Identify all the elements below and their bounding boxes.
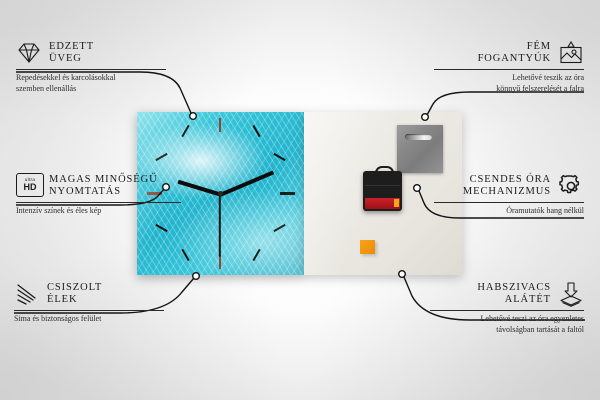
feature-description: Sima és biztonságos felület [14,314,174,325]
clock-second-hand [219,195,221,257]
feature-foam-pad: HABSZIVACS ALÁTÉT Lehetővé teszi az óra … [420,281,584,335]
ultra-hd-icon: ultra HD [16,173,42,199]
hanger-slot [405,134,432,140]
feature-header: EDZETT ÜVEG [16,40,176,66]
infographic-canvas: EDZETT ÜVEG Repedésekkel és karcolásokka… [0,0,600,400]
clock-tick-8 [155,224,167,232]
battery [365,198,400,209]
feature-divider [16,69,166,70]
feature-divider [434,202,584,203]
feature-silent-mechanism: CSENDES ÓRA MECHANIZMUS Óramutatók hang … [424,173,584,217]
gear-icon [558,173,584,199]
feature-description: Lehetővé teszik az óra könnyű felszerelé… [424,73,584,94]
feature-divider [16,202,181,203]
clock-tick-4 [273,224,285,232]
clock-minute-hand [219,170,274,196]
feature-title: FÉM FOGANTYÚK [478,41,551,66]
feature-divider [430,310,584,311]
feature-title: CSENDES ÓRA MECHANIZMUS [463,174,551,199]
feature-metal-handles: FÉM FOGANTYÚK Lehetővé teszik az óra kön… [424,40,584,94]
movement-seam [365,185,400,186]
feature-header: CSENDES ÓRA MECHANIZMUS [424,173,584,199]
clock-tick-11 [181,125,189,137]
feature-header: CSISZOLT ÉLEK [14,281,174,307]
clock-tick-12 [219,118,221,132]
foam-spacer-pad [360,240,375,254]
feature-description: Intenzív színek és éles kép [16,206,191,217]
clock-tick-7 [181,249,189,261]
feature-tempered-glass: EDZETT ÜVEG Repedésekkel és karcolásokka… [16,40,176,94]
feature-description: Repedésekkel és karcolásokkal szemben el… [16,73,176,94]
feature-description: Óramutatók hang nélkül [424,206,584,217]
clock-tick-1 [252,125,260,137]
feature-divider [434,69,584,70]
feature-title: MAGAS MINŐSÉGŰ NYOMTATÁS [49,174,158,199]
clock-tick-6 [219,255,221,269]
feature-header: HABSZIVACS ALÁTÉT [420,281,584,307]
feature-header: ultra HD MAGAS MINŐSÉGŰ NYOMTATÁS [16,173,191,199]
feature-header: FÉM FOGANTYÚK [424,40,584,66]
clock-tick-2 [273,153,285,161]
feature-description: Lehetővé teszi az óra egyenletes távolsá… [420,314,584,335]
feature-title: HABSZIVACS ALÁTÉT [477,282,551,307]
feature-high-quality-print: ultra HD MAGAS MINŐSÉGŰ NYOMTATÁS Intenz… [16,173,191,217]
clock-tick-3 [280,192,295,195]
feature-title: EDZETT ÜVEG [49,41,94,66]
feature-title: CSISZOLT ÉLEK [47,282,102,307]
clock-center-pivot [218,191,223,196]
metal-hanger-plate [397,125,443,173]
picture-frame-icon [558,40,584,66]
clock-tick-5 [252,249,260,261]
diamond-icon [16,40,42,66]
quartz-clock-movement [363,171,402,211]
clock-tick-10 [155,153,167,161]
feature-divider [14,310,164,311]
hanger-loop [375,166,394,176]
press-pad-icon [558,281,584,307]
feature-polished-edges: CSISZOLT ÉLEK Sima és biztonságos felüle… [14,281,174,325]
polished-edges-icon [14,281,40,307]
